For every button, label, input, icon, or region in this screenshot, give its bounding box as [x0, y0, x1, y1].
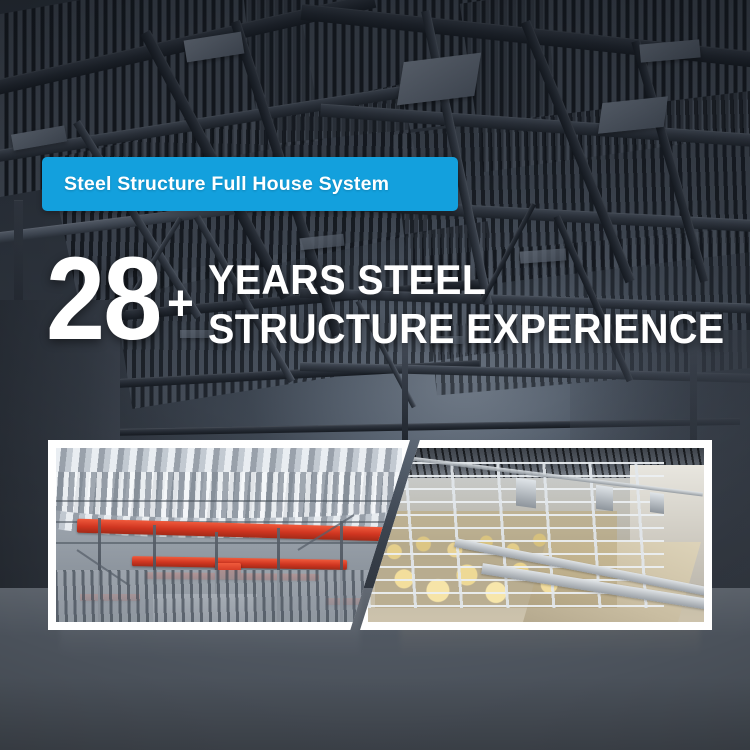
- tagline-badge-label: Steel Structure Full House System: [42, 173, 389, 196]
- workshop-racking: [56, 570, 402, 622]
- promo-banner: Steel Structure Full House System 28 + Y…: [0, 0, 750, 750]
- steel-workshop-photo: [48, 440, 410, 630]
- years-plus-sign: +: [167, 278, 194, 328]
- feeder-hopper: [516, 478, 536, 509]
- poultry-scene: [368, 448, 704, 622]
- workshop-purlin: [56, 542, 402, 544]
- headline-line-1: YEARS STEEL: [208, 256, 724, 305]
- headline-block: 28 + YEARS STEEL STRUCTURE EXPERIENCE: [46, 252, 726, 353]
- photo-strip: [0, 440, 750, 650]
- workshop-roof-secondary: [56, 472, 402, 517]
- years-number: 28: [46, 252, 161, 346]
- workshop-scene: [56, 448, 402, 622]
- poultry-house-photo: [360, 440, 712, 630]
- workshop-purlin: [56, 500, 402, 502]
- tagline-badge: Steel Structure Full House System: [42, 157, 458, 211]
- feeder-hopper: [650, 492, 664, 514]
- feeder-hopper: [596, 485, 613, 511]
- headline-line-2: STRUCTURE EXPERIENCE: [208, 305, 724, 354]
